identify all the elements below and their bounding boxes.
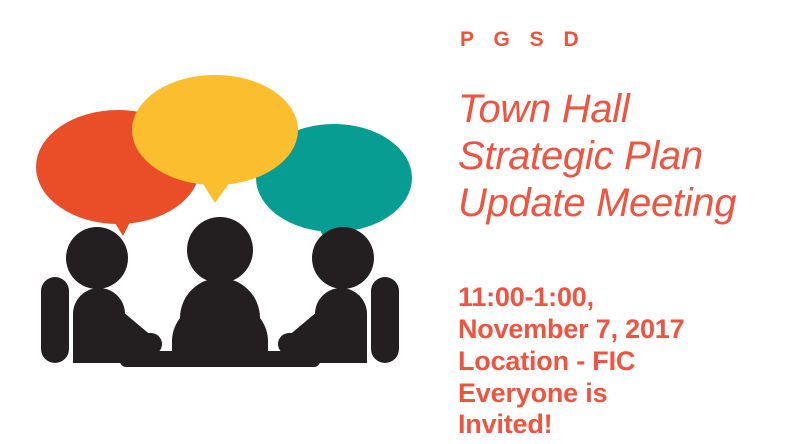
person-right-icon bbox=[278, 227, 374, 363]
page-title-line-1: Town Hall bbox=[458, 86, 800, 133]
chair-back-left-icon bbox=[41, 277, 69, 363]
meeting-discussion-illustration bbox=[0, 0, 440, 444]
organization-label: P G S D bbox=[460, 29, 586, 50]
event-location: Location - FIC bbox=[458, 346, 800, 378]
person-center-icon bbox=[172, 217, 268, 352]
page-title-line-3: Update Meeting bbox=[458, 180, 800, 227]
event-date: November 7, 2017 bbox=[458, 314, 800, 346]
chair-back-right-icon bbox=[371, 277, 399, 363]
person-left-icon bbox=[66, 227, 162, 363]
page-title-line-2: Strategic Plan bbox=[458, 133, 800, 180]
page-title: Town Hall Strategic Plan Update Meeting bbox=[458, 86, 800, 228]
event-time: 11:00-1:00, bbox=[458, 282, 800, 314]
event-invite-line-2: Invited! bbox=[458, 409, 800, 441]
meeting-table-icon bbox=[120, 351, 320, 367]
event-invite-line-1: Everyone is bbox=[458, 378, 800, 410]
event-details: 11:00-1:00, November 7, 2017 Location - … bbox=[458, 282, 800, 441]
poster-text-column: P G S D Town Hall Strategic Plan Update … bbox=[458, 0, 800, 444]
poster-canvas: P G S D Town Hall Strategic Plan Update … bbox=[0, 0, 800, 444]
